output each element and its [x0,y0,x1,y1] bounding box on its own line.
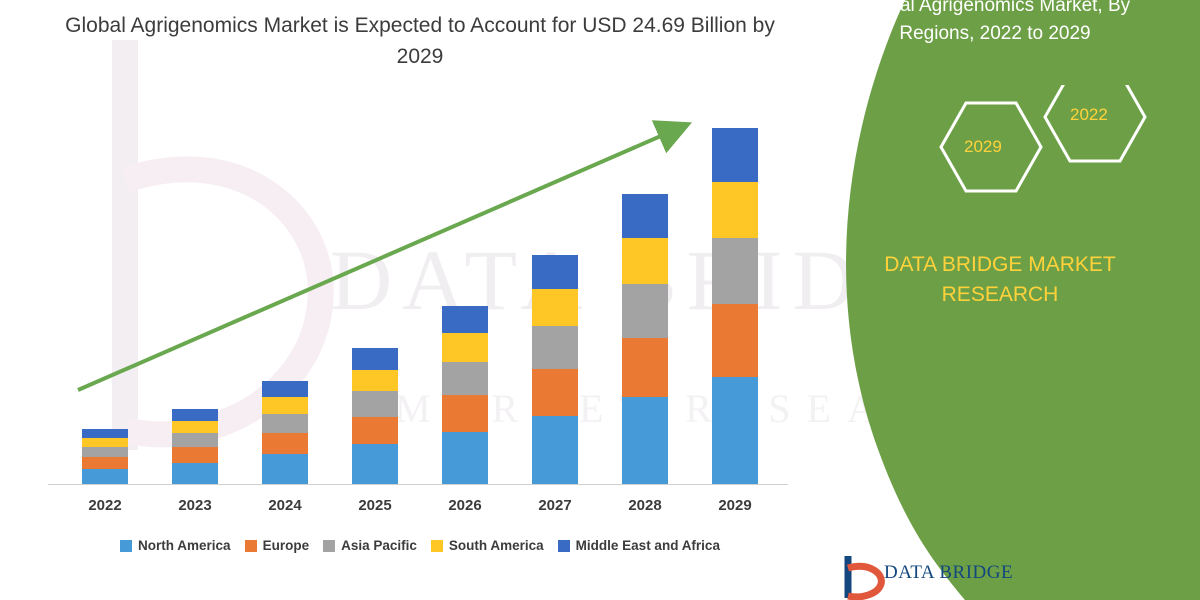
bar-segment [712,128,758,182]
stacked-bar-plot [60,120,780,485]
bar-segment [352,348,398,369]
bar-segment [532,255,578,290]
bar-column [442,306,488,485]
bar-segment [262,397,308,413]
logo-text: DATA BRIDGE [884,562,1013,584]
bar-column [262,381,308,485]
x-axis-tick-label: 2026 [420,497,510,514]
bar-segment [352,391,398,417]
legend-label: Europe [263,538,310,553]
bar-segment [442,432,488,485]
legend-label: Asia Pacific [341,538,417,553]
bar-column [712,128,758,485]
legend-swatch-icon [558,540,570,552]
bar-segment [442,362,488,396]
bar-segment [532,369,578,416]
hexagon-outline-icon [920,85,1180,225]
bar-segment [262,433,308,454]
legend-item[interactable]: North America [120,538,231,553]
legend-item[interactable]: South America [431,538,544,553]
right-green-panel: Global Agrigenomics Market, By Regions, … [790,0,1200,600]
bar-segment [352,417,398,445]
hexagon-badges: 2029 2022 [920,85,1180,225]
bar-segment [622,238,668,284]
legend-swatch-icon [323,540,335,552]
bar-column [172,409,218,485]
bar-segment [442,306,488,334]
bar-segment [262,454,308,485]
x-axis-tick-label: 2024 [240,497,330,514]
bar-segment [172,433,218,447]
brand-name: DATA BRIDGE MARKET RESEARCH [835,250,1165,310]
bar-column [82,429,128,485]
legend-swatch-icon [245,540,257,552]
bar-column [352,348,398,485]
legend-swatch-icon [431,540,443,552]
x-axis-tick-label: 2022 [60,497,150,514]
bar-column [622,194,668,485]
bar-segment [172,463,218,485]
legend-item[interactable]: Middle East and Africa [558,538,720,553]
bar-segment [352,444,398,485]
x-axis-tick-label: 2023 [150,497,240,514]
bar-segment [622,338,668,397]
chart-legend: North AmericaEuropeAsia PacificSouth Ame… [40,538,800,553]
bar-segment [172,447,218,462]
bar-segment [172,409,218,421]
bar-segment [622,284,668,338]
legend-label: Middle East and Africa [576,538,720,553]
bar-segment [442,395,488,432]
chart-panel: Global Agrigenomics Market is Expected t… [0,0,830,600]
bar-segment [532,326,578,369]
bar-segment [532,289,578,326]
x-axis-tick-label: 2029 [690,497,780,514]
bar-segment [712,238,758,304]
x-axis-tick-label: 2027 [510,497,600,514]
bar-segment [712,304,758,376]
bar-segment [532,416,578,485]
bar-segment [712,377,758,485]
legend-label: North America [138,538,231,553]
x-axis-tick-label: 2028 [600,497,690,514]
hex-label-2029: 2029 [964,137,1002,157]
bar-column [532,255,578,485]
bar-segment [712,182,758,238]
bar-segment [442,333,488,362]
bar-segment [352,370,398,391]
bar-segment [82,469,128,485]
bar-segment [82,447,128,457]
bar-segment [262,414,308,433]
right-panel-title: Global Agrigenomics Market, By Regions, … [830,0,1160,48]
x-axis-labels: 20222023202420252026202720282029 [60,497,780,523]
x-axis-line [48,484,788,485]
chart-title: Global Agrigenomics Market is Expected t… [60,10,780,72]
bar-segment [172,421,218,433]
legend-swatch-icon [120,540,132,552]
bar-segment [82,457,128,468]
bar-segment [622,194,668,238]
bar-segment [262,381,308,397]
legend-item[interactable]: Europe [245,538,310,553]
x-axis-tick-label: 2025 [330,497,420,514]
legend-label: South America [449,538,544,553]
bar-segment [82,438,128,447]
hex-label-2022: 2022 [1070,105,1108,125]
bar-segment [622,397,668,485]
legend-item[interactable]: Asia Pacific [323,538,417,553]
bar-segment [82,429,128,438]
